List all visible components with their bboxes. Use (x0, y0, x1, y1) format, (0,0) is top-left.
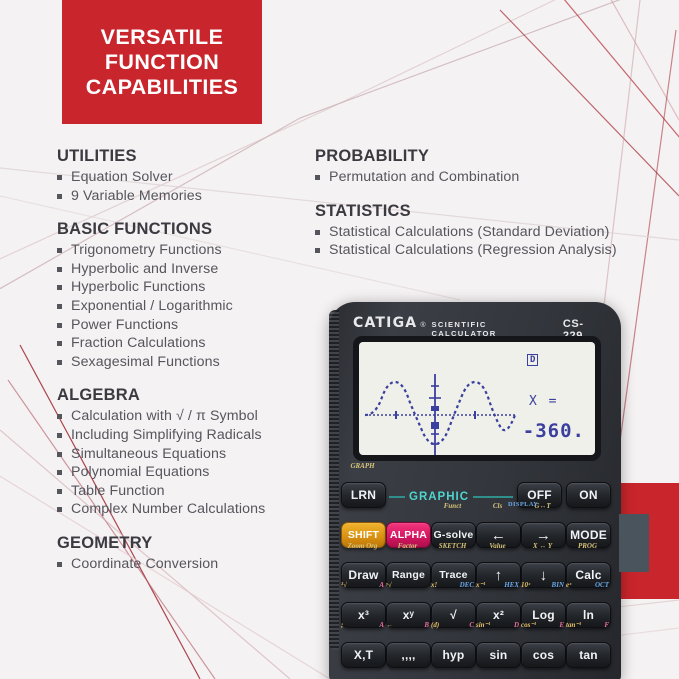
key-alpha-label: HEX (504, 581, 519, 589)
calculator-hinge-tab (619, 514, 649, 572)
bullet-icon (57, 248, 62, 253)
key-cell: cos⁻¹Ecos (521, 632, 564, 669)
banner-line-2: FUNCTION (105, 50, 219, 75)
keypad-row: GRAPHLRNGRAPHICOFFON (341, 472, 609, 509)
feature-list-item: Polynomial Equations (57, 463, 312, 482)
key-cell: (d)Chyp (431, 632, 474, 669)
bullet-icon (57, 562, 62, 567)
lcd-screen: D X = -360. (359, 342, 595, 455)
key-shift-label: ← (386, 621, 393, 629)
calculator-keypad: GRAPHLRNGRAPHICOFFONSHIFTALPHAFunctG-sol… (341, 472, 609, 679)
feature-text: Complex Number Calculations (71, 501, 265, 517)
calculator-left-edge-ribs (329, 310, 339, 650)
key-shift-label: ʸ√ (386, 581, 392, 589)
feature-list-item: Simultaneous Equations (57, 445, 312, 464)
feature-list: Calculation with √ / π SymbolIncluding S… (57, 407, 312, 519)
feature-group-title: ALGEBRA (57, 385, 312, 405)
bullet-icon (57, 304, 62, 309)
feature-list: Permutation and Combination (315, 168, 675, 187)
feature-text: Hyperbolic Functions (71, 279, 205, 295)
banner-dash-left (389, 496, 405, 497)
registered-trademark-icon: ® (420, 322, 425, 329)
feature-group-title: UTILITIES (57, 146, 312, 166)
key-shift-label: ³√ (341, 581, 347, 589)
feature-list-item: Statistical Calculations (Regression Ana… (315, 241, 675, 260)
graphic-mode-banner: GRAPHIC (389, 492, 513, 502)
bullet-icon (57, 433, 62, 438)
key-shift-alpha-labels: ʸ√ (386, 581, 429, 589)
key-secondary-label: SKETCH (431, 542, 474, 550)
key-shift-alpha-labels: x!DEC (431, 581, 474, 589)
calculator-key-[interactable]: ,,,, (386, 642, 431, 668)
feature-text: Equation Solver (71, 169, 173, 185)
calculator-brand-row: CATIGA ® SCIENTIFIC CALCULATOR CS-229 (353, 315, 603, 331)
key-shift-alpha-labels: cos⁻¹E (521, 621, 564, 629)
calculator-key-hyp[interactable]: hyp (431, 642, 476, 668)
feature-list-item: Exponential / Logarithmic (57, 297, 312, 316)
lcd-prompt: X = (529, 394, 558, 409)
feature-list-item: Table Function (57, 482, 312, 501)
feature-text: Calculation with √ / π Symbol (71, 408, 258, 424)
key-shift-label: sin⁻¹ (476, 621, 490, 629)
key-shift-label: ; (341, 621, 343, 629)
feature-list-item: Permutation and Combination (315, 168, 675, 187)
feature-text: Fraction Calculations (71, 335, 206, 351)
brand-name: CATIGA (353, 315, 417, 331)
feature-list-item: Including Simplifying Radicals (57, 426, 312, 445)
poster-canvas: VERSATILE FUNCTION CAPABILITIES UTILITIE… (0, 0, 679, 679)
key-alpha-label: A (379, 621, 384, 629)
lcd-bezel: D X = -360. (353, 336, 601, 461)
feature-text: Trigonometry Functions (71, 242, 222, 258)
feature-text: Power Functions (71, 317, 178, 333)
key-shift-label: cos⁻¹ (521, 621, 536, 629)
feature-text: Including Simplifying Radicals (71, 427, 262, 443)
calculator-body: CATIGA ® SCIENTIFIC CALCULATOR CS-229 D … (329, 302, 621, 679)
feature-list: Coordinate Conversion (57, 555, 312, 574)
feature-text: 9 Variable Memories (71, 188, 202, 204)
bullet-icon (57, 360, 62, 365)
key-shift-label: x! (431, 581, 437, 589)
bullet-icon (57, 489, 62, 494)
banner-line-1: VERSATILE (101, 25, 224, 50)
key-shift-alpha-labels: x⁻¹HEX (476, 581, 519, 589)
banner-dash-right (473, 496, 513, 497)
key-shift-alpha-labels: eˣOCT (566, 581, 609, 589)
key-shift-alpha-labels: 10ˣBIN (521, 581, 564, 589)
key-shift-alpha-labels: (d)C (431, 621, 474, 629)
calculator-key-sin[interactable]: sin (476, 642, 521, 668)
key-cell: tan⁻¹Ftan (566, 632, 609, 669)
bullet-icon (315, 175, 320, 180)
bullet-icon (315, 248, 320, 253)
key-alpha-label: F (604, 621, 609, 629)
key-shift-alpha-labels: ←B (386, 621, 429, 629)
feature-list: Trigonometry FunctionsHyperbolic and Inv… (57, 241, 312, 371)
key-secondary-label: PROG (566, 542, 609, 550)
key-alpha-label: BIN (552, 581, 564, 589)
feature-text: Statistical Calculations (Standard Devia… (329, 224, 610, 240)
key-alpha-label: E (559, 621, 564, 629)
bullet-icon (57, 194, 62, 199)
lcd-value: -360. (523, 420, 585, 442)
feature-group: GEOMETRYCoordinate Conversion (57, 533, 312, 574)
key-shift-label: eˣ (566, 581, 572, 589)
feature-list-item: Coordinate Conversion (57, 555, 312, 574)
bullet-icon (57, 175, 62, 180)
key-alpha-label: D (514, 621, 519, 629)
feature-list-item: Statistical Calculations (Standard Devia… (315, 223, 675, 242)
key-shift-label: (d) (431, 621, 439, 629)
calculator-key-lrn[interactable]: LRN (341, 482, 386, 508)
feature-group: UTILITIESEquation Solver9 Variable Memor… (57, 146, 312, 205)
keypad-row: ;AX,T←B,,,,(d)Chypsin⁻¹Dsincos⁻¹Ecostan⁻… (341, 632, 609, 669)
feature-group: STATISTICSStatistical Calculations (Stan… (315, 201, 675, 260)
feature-text: Simultaneous Equations (71, 446, 226, 462)
feature-text: Hyperbolic and Inverse (71, 261, 218, 277)
key-secondary-label: Value (476, 542, 519, 550)
key-shift-alpha-labels: sin⁻¹D (476, 621, 519, 629)
display-label: DISPLAY (508, 501, 538, 508)
bullet-icon (57, 341, 62, 346)
page-title-banner: VERSATILE FUNCTION CAPABILITIES (62, 0, 262, 124)
feature-column-left: UTILITIESEquation Solver9 Variable Memor… (57, 146, 312, 588)
bullet-icon (57, 452, 62, 457)
feature-text: Exponential / Logarithmic (71, 298, 233, 314)
key-shift-alpha-labels: ;A (341, 621, 384, 629)
key-cell: ;AX,T (341, 632, 384, 669)
key-shift-label: x⁻¹ (476, 581, 485, 589)
bullet-icon (315, 230, 320, 235)
key-secondary-label: Factor (386, 542, 429, 550)
feature-text: Polynomial Equations (71, 464, 209, 480)
bullet-icon (57, 470, 62, 475)
key-shift-alpha-labels: ³√A (341, 581, 384, 589)
bullet-icon (57, 507, 62, 512)
banner-line-3: CAPABILITIES (86, 75, 239, 100)
key-cell: ←B,,,, (386, 632, 429, 669)
bullet-icon (57, 323, 62, 328)
feature-text: Table Function (71, 483, 165, 499)
bullet-icon (57, 267, 62, 272)
key-secondary-label: GRAPH (341, 462, 384, 470)
feature-list-item: Trigonometry Functions (57, 241, 312, 260)
feature-list-item: Fraction Calculations (57, 334, 312, 353)
key-shift-label: 10ˣ (521, 581, 530, 589)
key-alpha-label: DEC (460, 581, 474, 589)
feature-list: Equation Solver9 Variable Memories (57, 168, 312, 205)
feature-text: Statistical Calculations (Regression Ana… (329, 242, 617, 258)
feature-group-title: BASIC FUNCTIONS (57, 219, 312, 239)
feature-group-title: STATISTICS (315, 201, 675, 221)
feature-group-title: GEOMETRY (57, 533, 312, 553)
key-shift-alpha-labels: tan⁻¹F (566, 621, 609, 629)
feature-group: BASIC FUNCTIONSTrigonometry FunctionsHyp… (57, 219, 312, 371)
feature-column-right: PROBABILITYPermutation and CombinationST… (315, 146, 675, 274)
key-alpha-label: B (424, 621, 429, 629)
lcd-sine-graph (363, 370, 523, 455)
feature-group-title: PROBABILITY (315, 146, 675, 166)
feature-list-item: Calculation with √ / π Symbol (57, 407, 312, 426)
feature-list-item: Power Functions (57, 316, 312, 335)
key-secondary-label: Funct (431, 502, 474, 510)
calculator-key-cos[interactable]: cos (521, 642, 566, 668)
feature-group: PROBABILITYPermutation and Combination (315, 146, 675, 187)
bullet-icon (57, 285, 62, 290)
feature-list: Statistical Calculations (Standard Devia… (315, 223, 675, 260)
feature-text: Sexagesimal Functions (71, 354, 220, 370)
calculator-key-tan[interactable]: tan (566, 642, 611, 668)
key-alpha-label: OCT (595, 581, 609, 589)
feature-list-item: Sexagesimal Functions (57, 353, 312, 372)
key-alpha-label: C (469, 621, 474, 629)
lcd-mode-indicator: D (527, 354, 538, 366)
key-secondary-label: Zoom Org (341, 542, 384, 550)
calculator-key-on[interactable]: ON (566, 482, 611, 508)
feature-list-item: Complex Number Calculations (57, 500, 312, 519)
feature-list-item: Hyperbolic and Inverse (57, 260, 312, 279)
feature-list-item: Hyperbolic Functions (57, 278, 312, 297)
feature-group: ALGEBRACalculation with √ / π SymbolIncl… (57, 385, 312, 519)
key-cell: sin⁻¹Dsin (476, 632, 519, 669)
feature-list-item: Equation Solver (57, 168, 312, 187)
key-secondary-label: X ↔ Y (521, 542, 564, 550)
feature-text: Coordinate Conversion (71, 556, 218, 572)
calculator-key-x-t[interactable]: X,T (341, 642, 386, 668)
feature-text: Permutation and Combination (329, 169, 519, 185)
bullet-icon (57, 414, 62, 419)
key-shift-label: tan⁻¹ (566, 621, 581, 629)
calculator-product-image: CATIGA ® SCIENTIFIC CALCULATOR CS-229 D … (329, 302, 621, 679)
feature-list-item: 9 Variable Memories (57, 187, 312, 206)
key-alpha-label: A (379, 581, 384, 589)
